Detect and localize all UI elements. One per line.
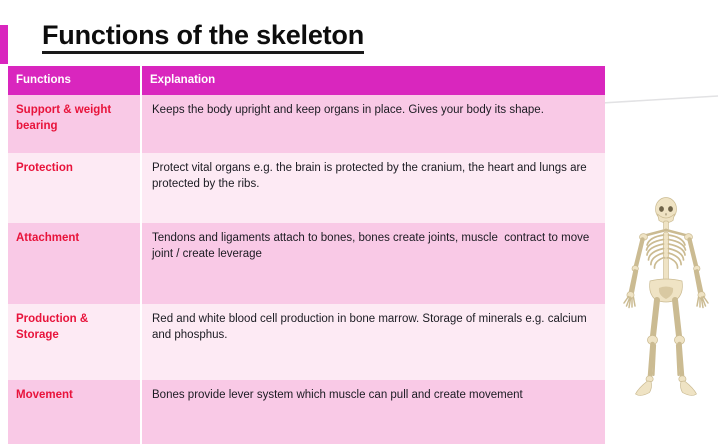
skeleton-illustration-icon <box>612 196 720 404</box>
column-header-explanation: Explanation <box>141 66 605 95</box>
table-header-row: Functions Explanation <box>8 66 605 95</box>
cell-function: Support & weight bearing <box>8 95 141 153</box>
cell-explanation: Bones provide lever system which muscle … <box>141 380 605 444</box>
column-header-functions: Functions <box>8 66 141 95</box>
cell-explanation: Protect vital organs e.g. the brain is p… <box>141 153 605 223</box>
hairline-artifact <box>600 88 720 108</box>
cell-function: Production & Storage <box>8 304 141 380</box>
table-row: Support & weight bearing Keeps the body … <box>8 95 605 153</box>
cell-explanation: Tendons and ligaments attach to bones, b… <box>141 223 605 304</box>
table-row: Movement Bones provide lever system whic… <box>8 380 605 444</box>
cell-explanation: Keeps the body upright and keep organs i… <box>141 95 605 153</box>
table-row: Production & Storage Red and white blood… <box>8 304 605 380</box>
page-title: Functions of the skeleton <box>42 22 364 54</box>
cell-function: Protection <box>8 153 141 223</box>
functions-of-skeleton-table: Functions Explanation Support & weight b… <box>8 66 605 444</box>
cell-function: Attachment <box>8 223 141 304</box>
table-row: Attachment Tendons and ligaments attach … <box>8 223 605 304</box>
accent-bar <box>0 25 8 64</box>
cell-function: Movement <box>8 380 141 444</box>
table-row: Protection Protect vital organs e.g. the… <box>8 153 605 223</box>
cell-explanation: Red and white blood cell production in b… <box>141 304 605 380</box>
